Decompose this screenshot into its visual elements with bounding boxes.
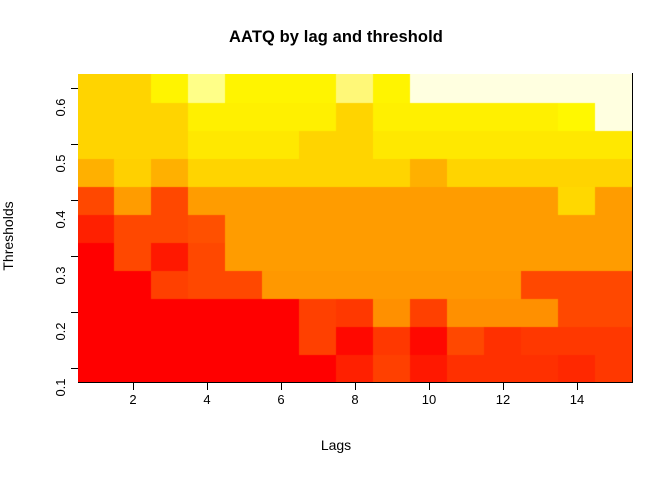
x-tick-label: 12 bbox=[483, 392, 523, 407]
y-tick-mark bbox=[71, 200, 78, 201]
x-tick-label: 14 bbox=[557, 392, 597, 407]
y-tick-label: 0.1 bbox=[53, 368, 68, 408]
x-tick-label: 6 bbox=[261, 392, 301, 407]
x-tick-mark bbox=[355, 383, 356, 390]
heatmap-cells bbox=[78, 74, 632, 382]
y-tick-label: 0.4 bbox=[53, 200, 68, 240]
x-tick-mark bbox=[577, 383, 578, 390]
x-tick-label: 10 bbox=[409, 392, 449, 407]
y-tick-mark bbox=[71, 368, 78, 369]
y-tick-label: 0.6 bbox=[53, 88, 68, 128]
x-tick-label: 8 bbox=[335, 392, 375, 407]
y-axis-line bbox=[632, 73, 633, 383]
y-tick-label: 0.5 bbox=[53, 144, 68, 184]
y-tick-mark bbox=[71, 312, 78, 313]
y-tick-label: 0.2 bbox=[53, 312, 68, 352]
x-tick-mark bbox=[281, 383, 282, 390]
x-tick-mark bbox=[429, 383, 430, 390]
x-tick-label: 2 bbox=[113, 392, 153, 407]
plot-area bbox=[78, 74, 632, 382]
x-tick-label: 4 bbox=[187, 392, 227, 407]
y-tick-mark bbox=[71, 144, 78, 145]
x-tick-mark bbox=[133, 383, 134, 390]
heatmap-figure: AATQ by lag and threshold 2468101214 0.1… bbox=[0, 0, 672, 480]
x-axis-title: Lags bbox=[0, 437, 672, 453]
x-tick-mark bbox=[503, 383, 504, 390]
y-tick-label: 0.3 bbox=[53, 256, 68, 296]
chart-title: AATQ by lag and threshold bbox=[0, 28, 672, 47]
x-tick-mark bbox=[207, 383, 208, 390]
y-tick-mark bbox=[71, 256, 78, 257]
y-axis-title: Thresholds bbox=[0, 176, 16, 296]
y-tick-mark bbox=[71, 88, 78, 89]
